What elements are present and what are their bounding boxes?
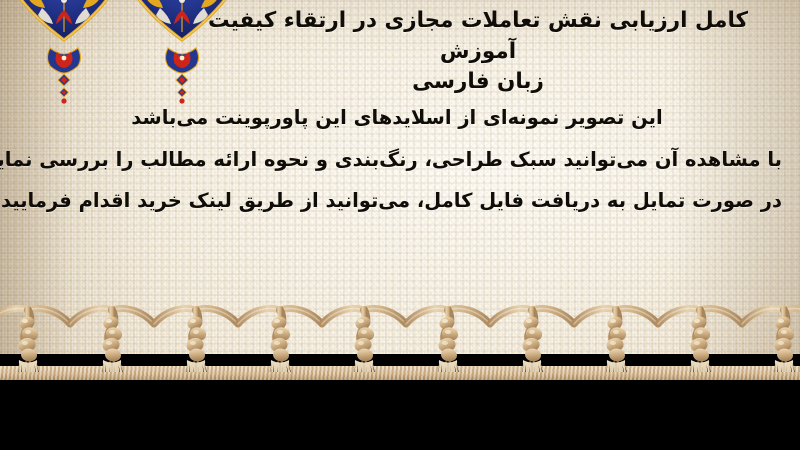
slide-body-line-2: با مشاهده آن می‌توانید سبک طراحی، رنگ‌بن… xyxy=(12,150,782,170)
slide-canvas: کامل ارزیابی نقش تعاملات مجازی در ارتقاء… xyxy=(0,0,800,450)
slide-body: این تصویر نمونه‌ای از اسلایدهای این پاور… xyxy=(12,108,782,211)
slide-title-line-2: زبان فارسی xyxy=(178,67,778,98)
slide-body-line-3: در صورت تمایل به دریافت فایل کامل، می‌تو… xyxy=(12,191,782,211)
slide-title-line-1: کامل ارزیابی نقش تعاملات مجازی در ارتقاء… xyxy=(178,6,778,67)
slide-body-line-1: این تصویر نمونه‌ای از اسلایدهای این پاور… xyxy=(12,108,782,128)
slide-title: کامل ارزیابی نقش تعاملات مجازی در ارتقاء… xyxy=(178,6,778,98)
knotted-tassel-fringe xyxy=(0,282,800,372)
persian-illumination-medallion-left-icon xyxy=(8,0,120,110)
